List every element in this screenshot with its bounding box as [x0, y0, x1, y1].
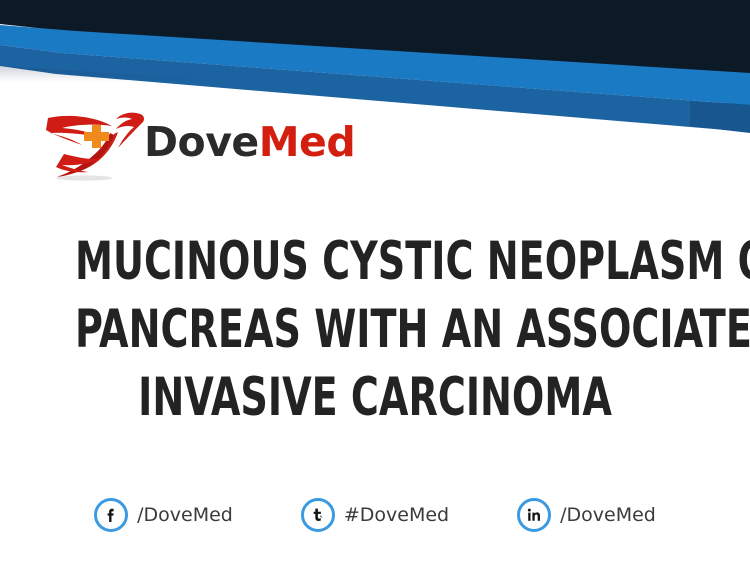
dovemed-logo[interactable]: DoveMed — [44, 100, 355, 184]
title-line-2: PANCREAS WITH AN ASSOCIATED — [75, 296, 675, 364]
dovemed-wordmark: DoveMed — [144, 122, 355, 163]
facebook-icon[interactable] — [94, 498, 128, 532]
page-title: MUCINOUS CYSTIC NEOPLASM OF PANCREAS WIT… — [75, 228, 675, 432]
social-link-twitter[interactable]: #DoveMed — [301, 498, 449, 532]
facebook-handle: /DoveMed — [137, 504, 233, 526]
twitter-icon[interactable] — [301, 498, 335, 532]
linkedin-handle: /DoveMed — [560, 504, 656, 526]
social-link-facebook[interactable]: /DoveMed — [94, 498, 233, 532]
social-link-linkedin[interactable]: /DoveMed — [517, 498, 656, 532]
title-line-3: INVASIVE CARCINOMA — [75, 364, 675, 432]
social-links-bar: /DoveMed #DoveMed /DoveMed — [0, 498, 750, 532]
wordmark-dove: Dove — [144, 118, 259, 166]
dove-bird-icon — [44, 102, 148, 182]
title-line-1: MUCINOUS CYSTIC NEOPLASM OF — [75, 228, 675, 296]
wordmark-med: Med — [259, 118, 355, 166]
dovemed-article-card: DoveMed MUCINOUS CYSTIC NEOPLASM OF PANC… — [0, 0, 750, 562]
linkedin-icon[interactable] — [517, 498, 551, 532]
twitter-handle: #DoveMed — [344, 504, 449, 526]
